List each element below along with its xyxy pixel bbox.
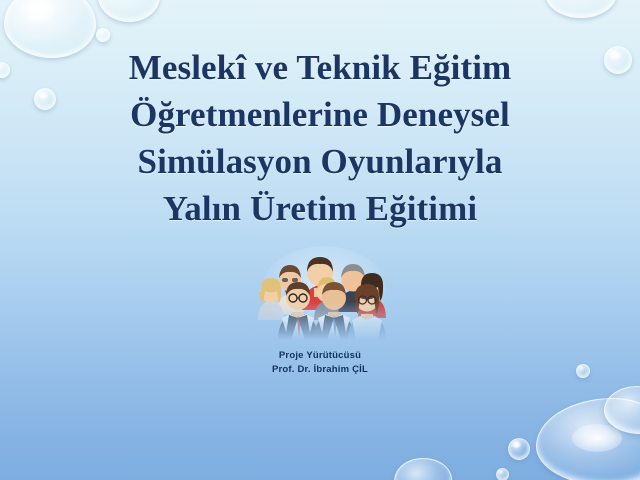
title-line-2: Öğretmenlerine Deneysel [40,91,600,138]
presenter-credit: Proje Yürütücüsü Prof. Dr. İbrahim ÇİL [170,349,470,376]
title-line-1: Meslekî ve Teknik Eğitim [40,44,600,91]
water-bubble-icon [496,468,509,480]
credit-name: Prof. Dr. İbrahim ÇİL [170,363,470,377]
water-bubble-icon [576,364,590,378]
group-of-people-illustration [258,240,390,340]
title-line-3: Simülasyon Oyunlarıyla [40,138,600,185]
page-title: Meslekî ve Teknik Eğitim Öğretmenlerine … [40,44,600,232]
presentation-slide: Meslekî ve Teknik Eğitim Öğretmenlerine … [0,0,640,480]
water-bubble-icon [604,46,632,74]
credit-role: Proje Yürütücüsü [170,349,470,363]
title-line-4: Yalın Üretim Eğitimi [40,185,600,232]
water-droplet-icon [604,386,640,434]
water-droplet-icon [536,398,640,480]
water-bubble-icon [545,0,617,18]
water-bubble-highlight-icon [572,424,622,452]
water-droplet-icon [394,458,452,480]
water-bubble-icon [508,438,530,460]
water-bubble-icon [96,28,110,42]
water-bubble-icon [0,62,10,78]
water-bubble-icon [98,0,160,22]
